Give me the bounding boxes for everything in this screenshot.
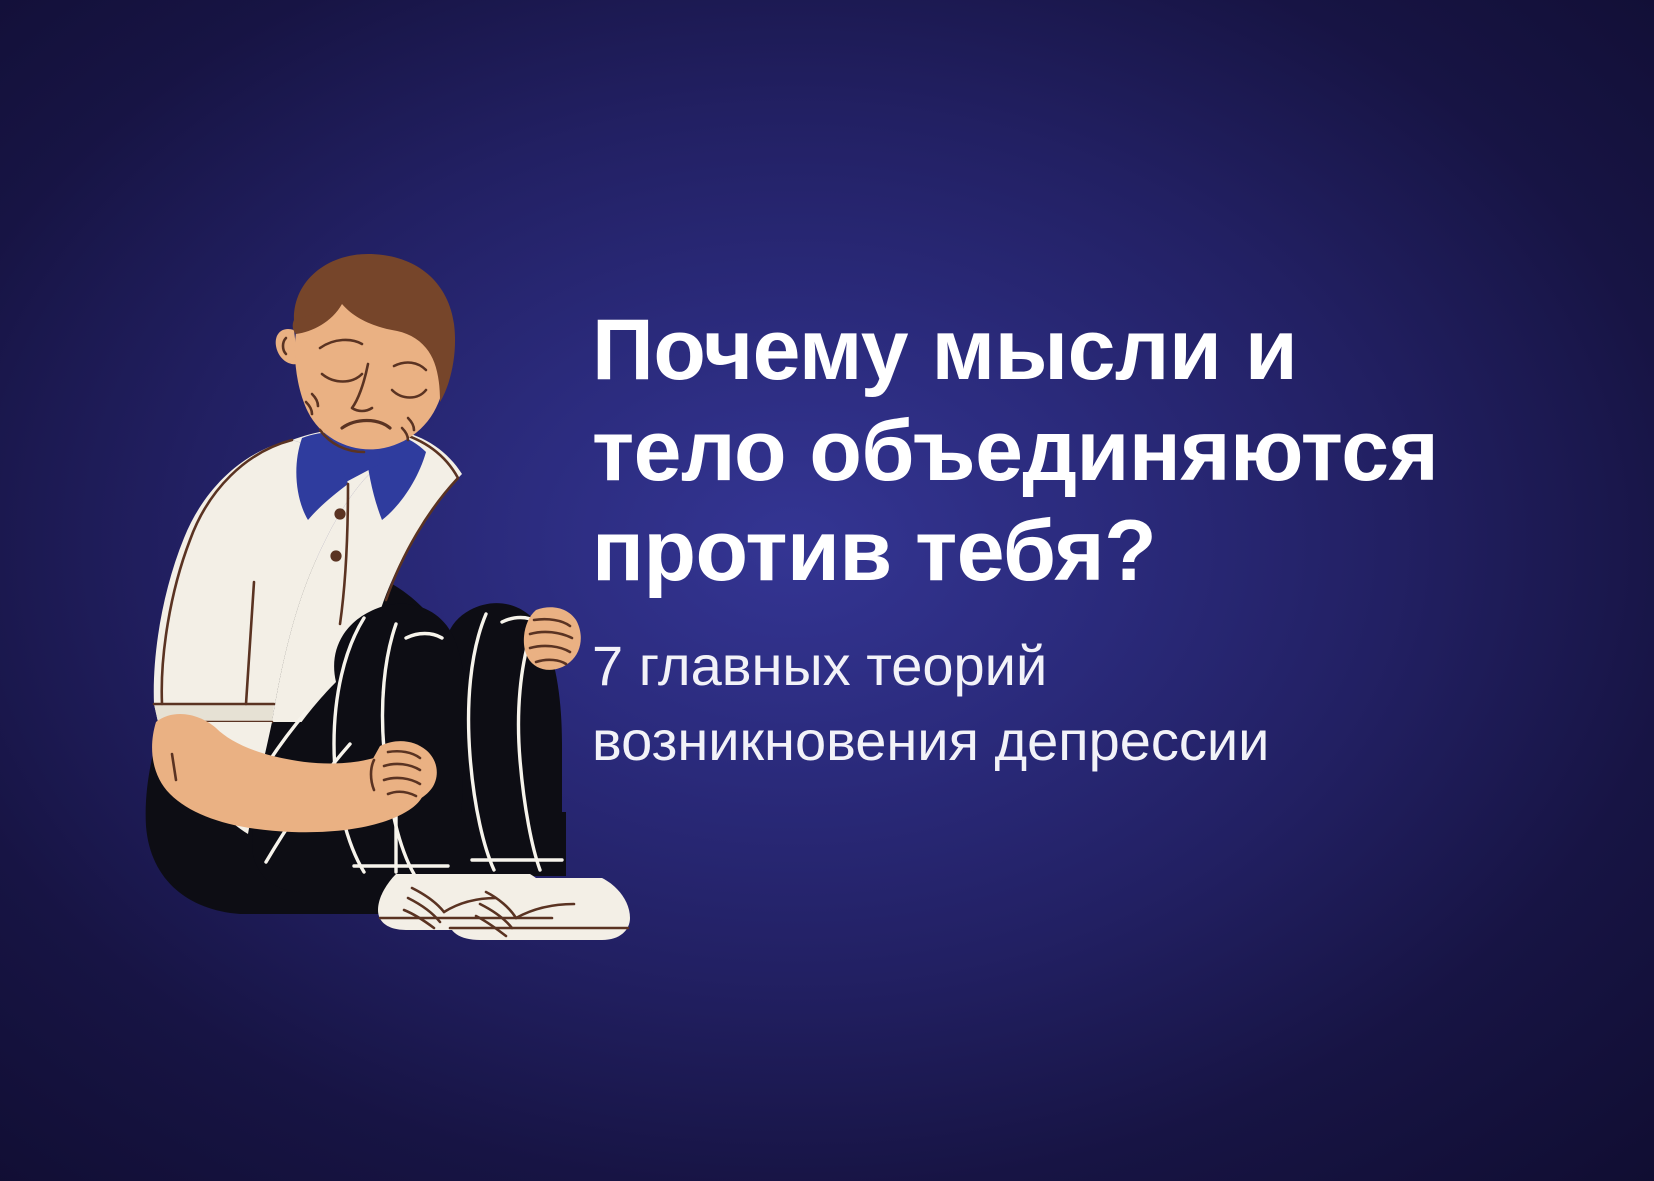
sad-sitting-man-illustration: .sk { fill: #eab183; } .sk2 { fill: #e3a… xyxy=(96,252,636,952)
poster-canvas: .sk { fill: #eab183; } .sk2 { fill: #e3a… xyxy=(0,0,1654,1181)
shoes-group xyxy=(378,874,630,940)
page-subtitle: 7 главных теорий возникновения депрессии xyxy=(592,628,1602,779)
text-block: Почему мысли и тело объединяются против … xyxy=(592,300,1602,779)
page-title: Почему мысли и тело объединяются против … xyxy=(592,300,1602,602)
head xyxy=(276,254,455,452)
far-hand xyxy=(524,607,581,670)
